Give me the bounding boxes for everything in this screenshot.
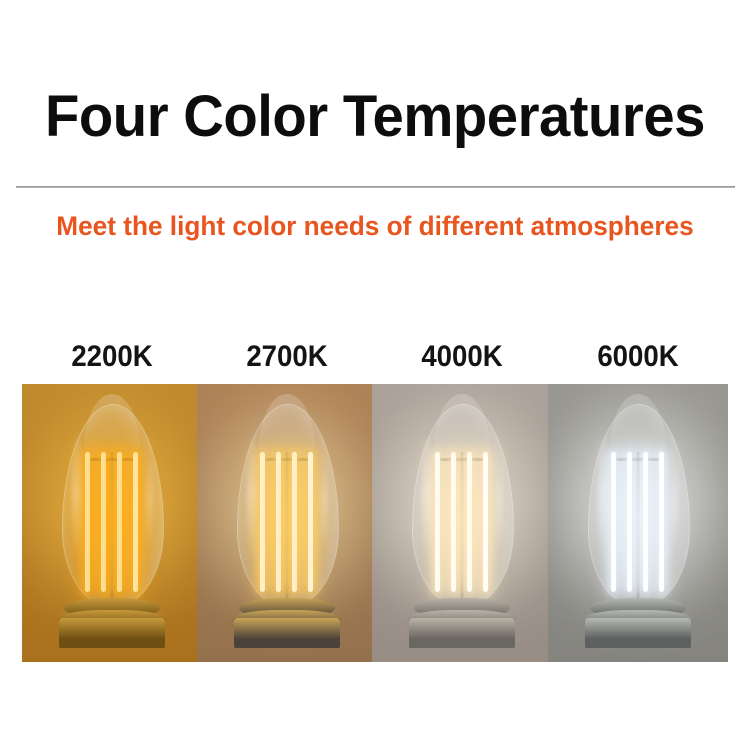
candle-bulb	[56, 396, 168, 648]
bulb-base-body	[409, 618, 515, 648]
kelvin-label-2700k: 2700K	[204, 340, 370, 374]
filament-strip	[260, 452, 265, 592]
filament-group	[609, 452, 667, 592]
page-title: Four Color Temperatures	[11, 88, 739, 146]
candle-bulb	[406, 396, 518, 648]
filament-strip	[659, 452, 664, 592]
filament-strip	[133, 452, 138, 592]
filament-strip	[308, 452, 313, 592]
filament-strip	[451, 452, 456, 592]
filament-strip	[292, 452, 297, 592]
filament-strip	[101, 452, 106, 592]
filament-strip	[435, 452, 440, 592]
bulb-panel-2700k	[197, 384, 377, 662]
kelvin-label-2200k: 2200K	[29, 340, 195, 374]
filament-strip	[611, 452, 616, 592]
filament-strip	[643, 452, 648, 592]
filament-strip	[85, 452, 90, 592]
candle-bulb	[231, 396, 343, 648]
filament-strip	[117, 452, 122, 592]
filament-strip	[627, 452, 632, 592]
bulb-base-body	[234, 618, 340, 648]
bulb-panel-row	[22, 384, 728, 662]
kelvin-label-4000k: 4000K	[379, 340, 545, 374]
infographic-root: Four Color Temperatures Meet the light c…	[0, 0, 750, 750]
bulb-panel-6000k	[548, 384, 728, 662]
filament-strip	[276, 452, 281, 592]
bulb-base-body	[59, 618, 165, 648]
filament-group	[433, 452, 491, 592]
filament-group	[258, 452, 316, 592]
bulb-panel-4000k	[372, 384, 552, 662]
candle-bulb	[582, 396, 694, 648]
filament-group	[83, 452, 141, 592]
page-subtitle: Meet the light color needs of different …	[11, 210, 739, 242]
kelvin-label-row: 2200K 2700K 4000K 6000K	[22, 340, 728, 374]
filament-strip	[483, 452, 488, 592]
filament-strip	[467, 452, 472, 592]
title-divider	[16, 186, 735, 188]
kelvin-label-6000k: 6000K	[555, 340, 721, 374]
bulb-panel-2200k	[22, 384, 202, 662]
bulb-base-body	[585, 618, 691, 648]
